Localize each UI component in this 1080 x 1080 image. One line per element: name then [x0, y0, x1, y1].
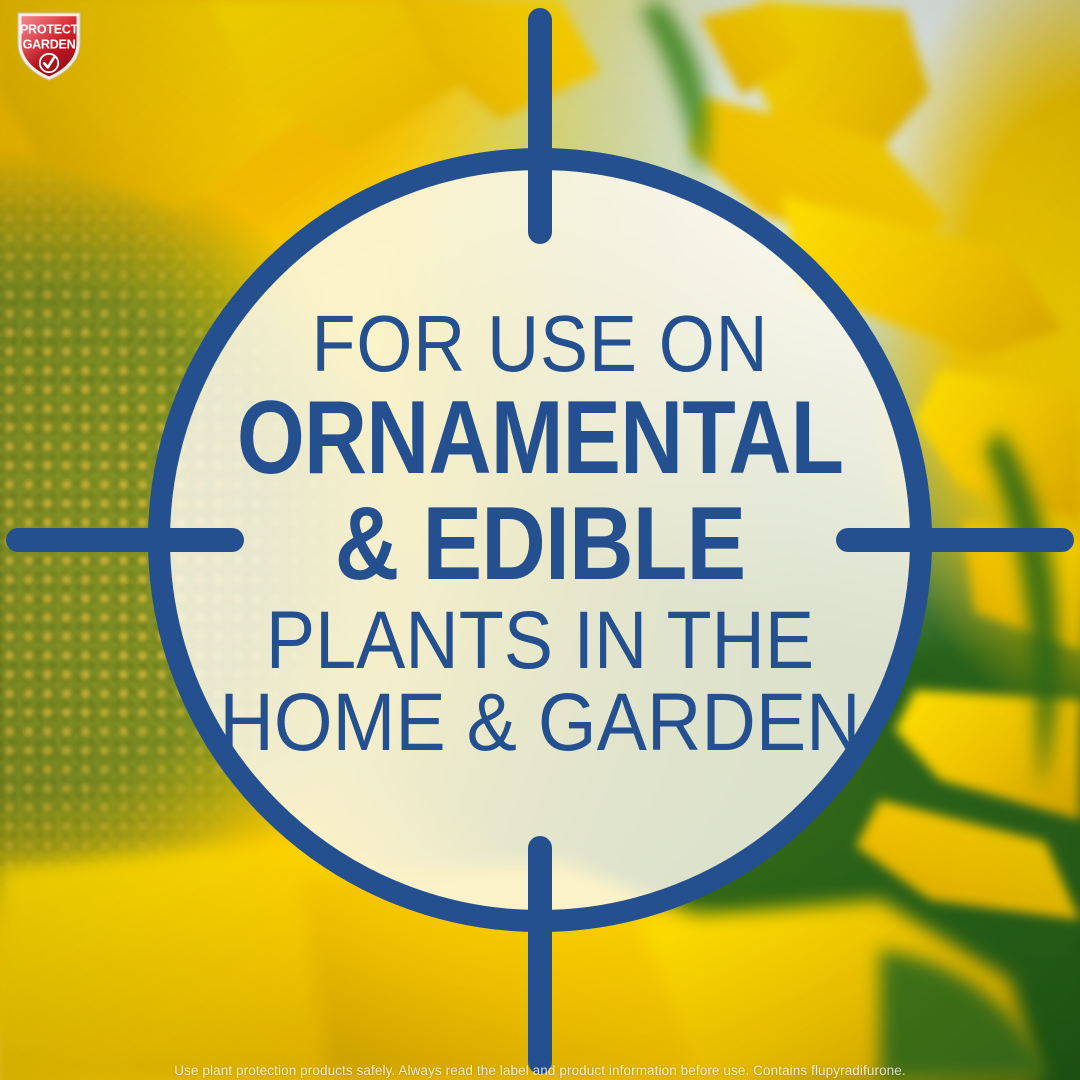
headline-line-for-use-on: FOR USE ON: [185, 304, 896, 384]
protect-garden-shield-icon[interactable]: PROTECT GARDEN: [10, 7, 88, 83]
svg-text:GARDEN: GARDEN: [23, 38, 76, 52]
promo-image-canvas: FOR USE ON ORNAMENTAL & EDIBLE PLANTS IN…: [0, 0, 1080, 1080]
headline-line-edible: & EDIBLE: [200, 492, 879, 596]
legal-disclaimer-text: Use plant protection products safely. Al…: [0, 1063, 1080, 1078]
headline-line-plants: PLANTS IN THE: [185, 600, 896, 682]
svg-text:PROTECT: PROTECT: [20, 23, 79, 37]
headline-line-home-garden: HOME & GARDEN: [177, 682, 904, 764]
headline-line-ornamental: ORNAMENTAL: [208, 386, 872, 490]
headline-block: FOR USE ON ORNAMENTAL & EDIBLE PLANTS IN…: [145, 304, 935, 764]
